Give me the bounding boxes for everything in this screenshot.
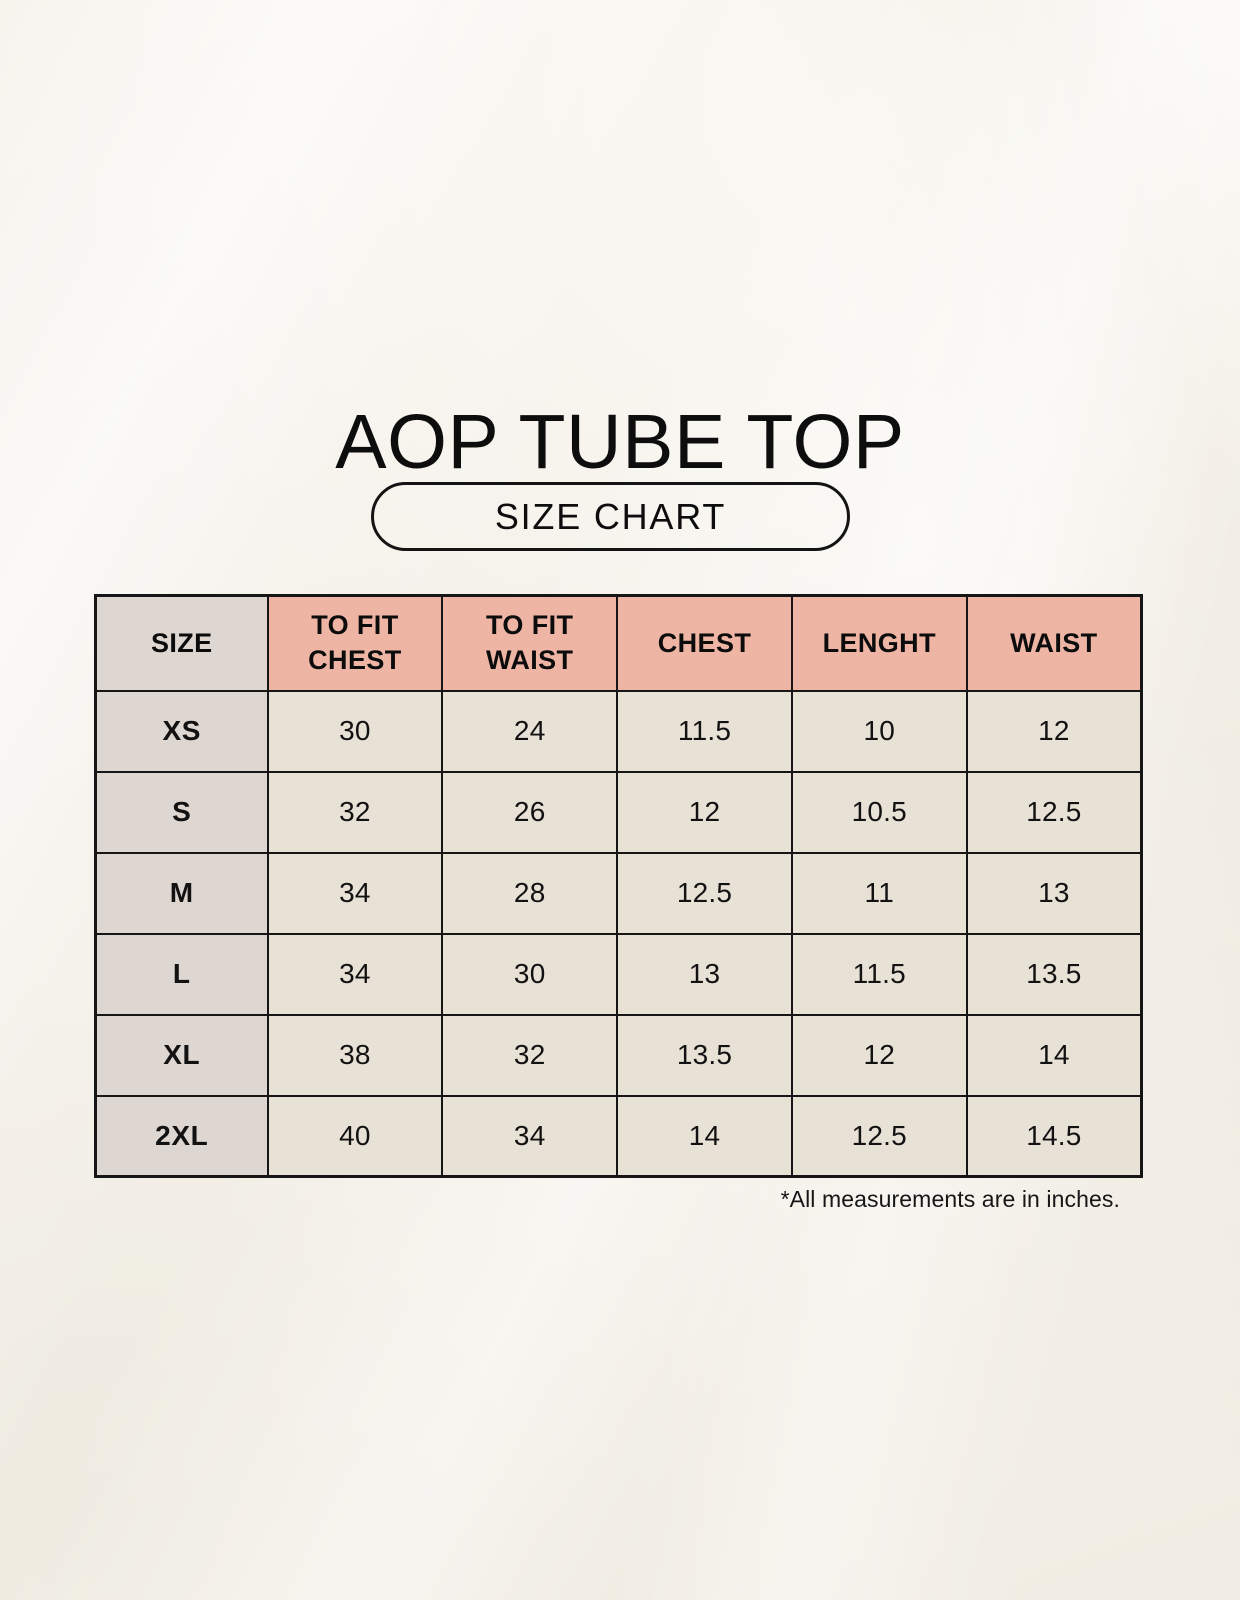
cell-waist: 14.5 <box>967 1096 1142 1177</box>
cell-to-fit-chest: 40 <box>268 1096 443 1177</box>
cell-to-fit-waist: 28 <box>442 853 617 934</box>
cell-lenght: 12.5 <box>792 1096 967 1177</box>
cell-to-fit-chest: 38 <box>268 1015 443 1096</box>
cell-waist: 13 <box>967 853 1142 934</box>
cell-lenght: 10 <box>792 691 967 772</box>
column-header-waist-line-1: WAIST <box>1010 628 1098 658</box>
size-chart-badge: SIZE CHART <box>371 482 850 551</box>
column-header-lenght: LENGHT <box>792 596 967 691</box>
size-table-head: SIZE TO FIT CHEST TO FIT WAIST CHEST LEN <box>96 596 1142 691</box>
table-row: L 34 30 13 11.5 13.5 <box>96 934 1142 1015</box>
cell-lenght: 11 <box>792 853 967 934</box>
cell-size: L <box>96 934 268 1015</box>
size-chart-page: AOP TUBE TOP SIZE CHART SIZE TO FIT <box>0 0 1240 1600</box>
cell-waist: 12.5 <box>967 772 1142 853</box>
cell-size: 2XL <box>96 1096 268 1177</box>
table-row: XL 38 32 13.5 12 14 <box>96 1015 1142 1096</box>
column-header-chest: CHEST <box>617 596 792 691</box>
column-header-size: SIZE <box>96 596 268 691</box>
size-table-body: XS 30 24 11.5 10 12 S 32 26 12 10.5 12.5… <box>96 691 1142 1177</box>
cell-to-fit-chest: 30 <box>268 691 443 772</box>
cell-size: S <box>96 772 268 853</box>
cell-to-fit-waist: 30 <box>442 934 617 1015</box>
column-header-waist: WAIST <box>967 596 1142 691</box>
cell-to-fit-waist: 34 <box>442 1096 617 1177</box>
cell-size: XS <box>96 691 268 772</box>
table-row: 2XL 40 34 14 12.5 14.5 <box>96 1096 1142 1177</box>
table-row: M 34 28 12.5 11 13 <box>96 853 1142 934</box>
size-table: SIZE TO FIT CHEST TO FIT WAIST CHEST LEN <box>94 594 1143 1178</box>
table-header-row: SIZE TO FIT CHEST TO FIT WAIST CHEST LEN <box>96 596 1142 691</box>
cell-chest: 11.5 <box>617 691 792 772</box>
column-header-chest-line-1: CHEST <box>658 628 752 658</box>
cell-waist: 13.5 <box>967 934 1142 1015</box>
cell-to-fit-chest: 32 <box>268 772 443 853</box>
cell-chest: 13 <box>617 934 792 1015</box>
measurement-note: *All measurements are in inches. <box>94 1186 1120 1214</box>
cell-lenght: 12 <box>792 1015 967 1096</box>
cell-size: M <box>96 853 268 934</box>
column-header-to-fit-waist-line-1: TO FIT <box>486 610 573 640</box>
column-header-to-fit-chest: TO FIT CHEST <box>268 596 443 691</box>
cell-lenght: 10.5 <box>792 772 967 853</box>
cell-waist: 14 <box>967 1015 1142 1096</box>
column-header-to-fit-chest-line-1: TO FIT <box>311 610 398 640</box>
column-header-lenght-line-1: LENGHT <box>823 628 936 658</box>
column-header-to-fit-waist-line-2: WAIST <box>486 645 574 675</box>
cell-size: XL <box>96 1015 268 1096</box>
column-header-to-fit-chest-line-2: CHEST <box>308 645 402 675</box>
size-table-container: SIZE TO FIT CHEST TO FIT WAIST CHEST LEN <box>94 594 1140 1178</box>
table-row: XS 30 24 11.5 10 12 <box>96 691 1142 772</box>
cell-to-fit-chest: 34 <box>268 853 443 934</box>
cell-to-fit-chest: 34 <box>268 934 443 1015</box>
cell-lenght: 11.5 <box>792 934 967 1015</box>
column-header-to-fit-waist: TO FIT WAIST <box>442 596 617 691</box>
cell-to-fit-waist: 26 <box>442 772 617 853</box>
column-header-size-line-1: SIZE <box>151 628 213 658</box>
page-title: AOP TUBE TOP <box>0 404 1240 481</box>
size-chart-badge-label: SIZE CHART <box>495 499 726 535</box>
cell-waist: 12 <box>967 691 1142 772</box>
cell-chest: 12.5 <box>617 853 792 934</box>
table-row: S 32 26 12 10.5 12.5 <box>96 772 1142 853</box>
cell-to-fit-waist: 32 <box>442 1015 617 1096</box>
cell-chest: 13.5 <box>617 1015 792 1096</box>
cell-chest: 14 <box>617 1096 792 1177</box>
cell-to-fit-waist: 24 <box>442 691 617 772</box>
cell-chest: 12 <box>617 772 792 853</box>
